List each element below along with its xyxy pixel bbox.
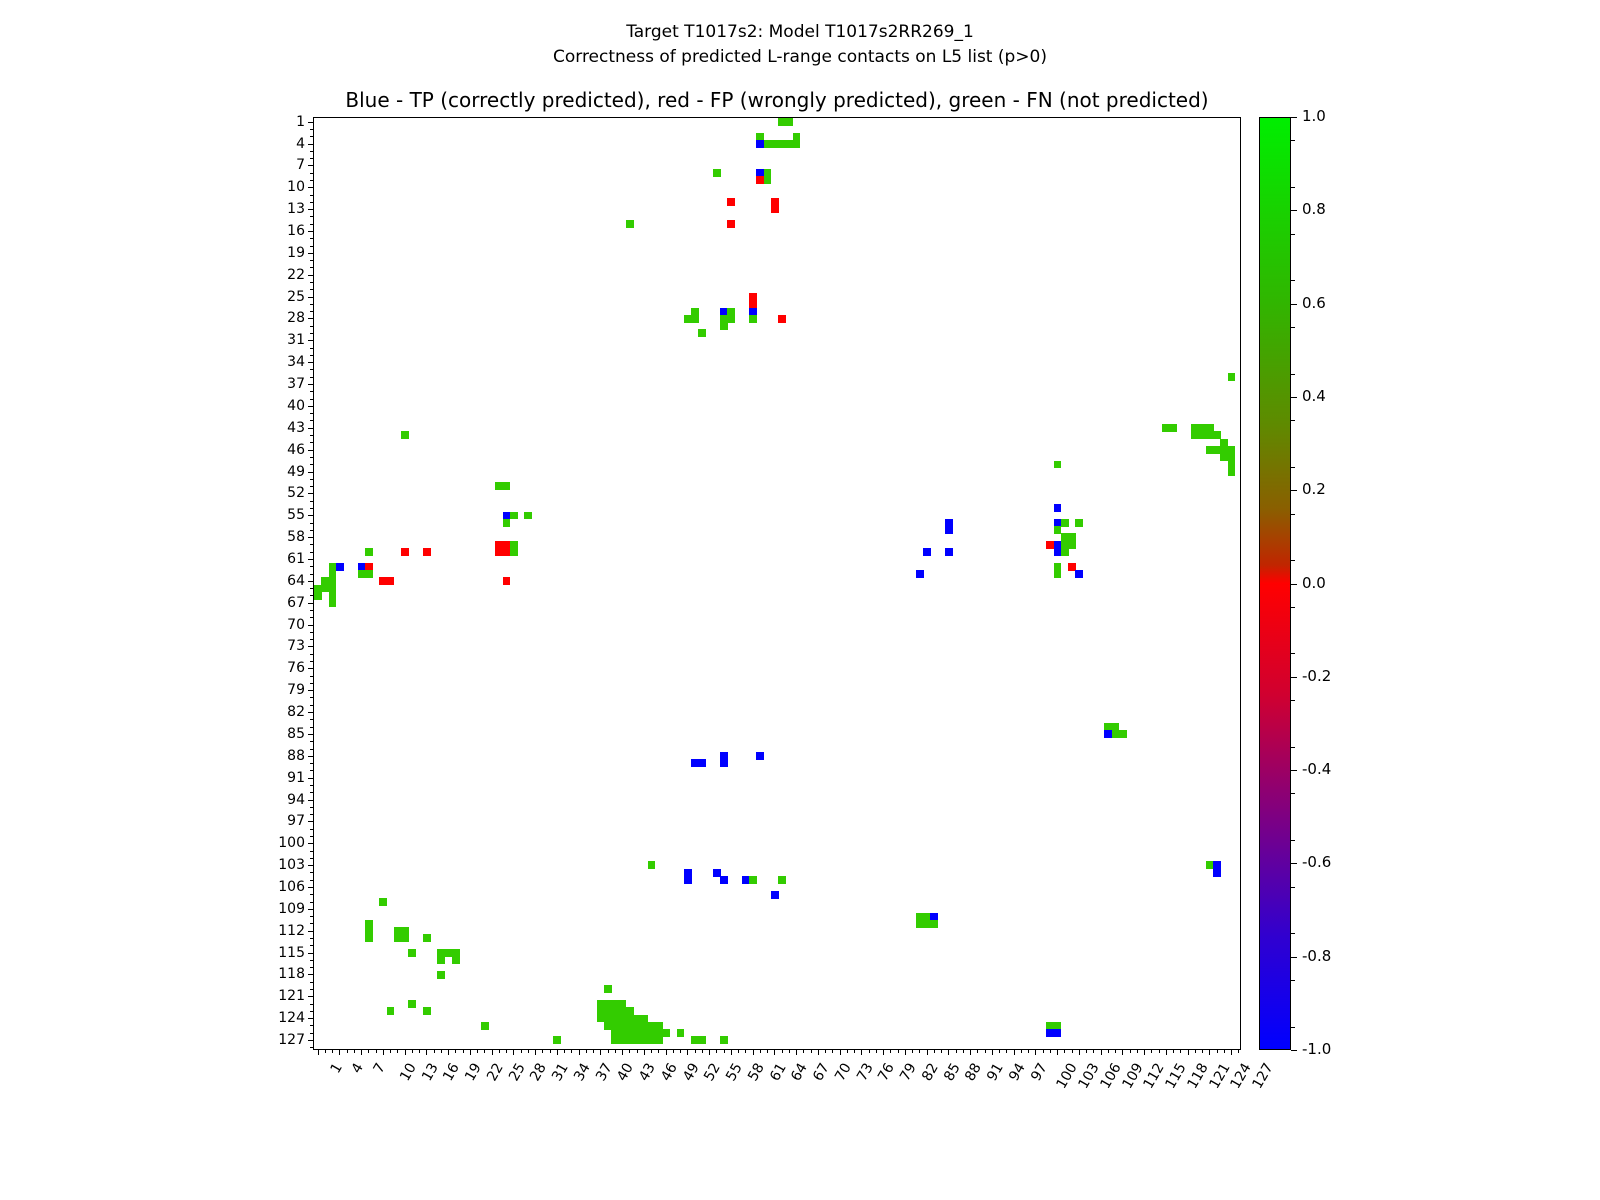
- y-tick-minor: [310, 173, 314, 174]
- contact-cell: [423, 1007, 431, 1015]
- x-tick-minor: [354, 1049, 355, 1053]
- y-tick-major: [308, 297, 314, 298]
- contact-cell: [923, 548, 931, 556]
- contact-cell: [503, 519, 511, 527]
- colorbar-tick: [1291, 957, 1297, 958]
- contact-cell: [423, 548, 431, 556]
- y-tick-major: [308, 231, 314, 232]
- x-tick-minor: [571, 1049, 572, 1053]
- x-tick-label: 124: [1229, 1061, 1254, 1091]
- x-tick-minor: [463, 1049, 464, 1053]
- x-tick-major: [492, 1049, 493, 1055]
- x-tick-major: [470, 1049, 471, 1055]
- x-tick-major: [687, 1049, 688, 1055]
- x-tick-minor: [347, 1049, 348, 1053]
- contact-cell: [1119, 730, 1127, 738]
- x-tick-major: [840, 1049, 841, 1055]
- contact-cell: [408, 1000, 416, 1008]
- y-tick-minor: [310, 807, 314, 808]
- x-tick-minor: [629, 1049, 630, 1053]
- colorbar-tick: [1291, 770, 1297, 771]
- x-tick-minor: [651, 1049, 652, 1053]
- x-tick-minor: [484, 1049, 485, 1053]
- x-tick-minor: [455, 1049, 456, 1053]
- x-tick-major: [383, 1049, 384, 1055]
- y-tick-minor: [310, 479, 314, 480]
- x-tick-major: [426, 1049, 427, 1055]
- x-tick-minor: [593, 1049, 594, 1053]
- x-tick-major: [774, 1049, 775, 1055]
- x-tick-minor: [985, 1049, 986, 1053]
- colorbar-tick-minor: [1291, 933, 1295, 934]
- x-tick-minor: [506, 1049, 507, 1053]
- contact-cell: [1054, 1029, 1062, 1037]
- y-tick-minor: [310, 377, 314, 378]
- colorbar-tick: [1291, 863, 1297, 864]
- y-tick-minor: [310, 945, 314, 946]
- contact-cell: [677, 1029, 685, 1037]
- y-tick-minor: [310, 683, 314, 684]
- y-tick-minor: [310, 369, 314, 370]
- y-tick-minor: [310, 311, 314, 312]
- x-tick-label: 46: [659, 1061, 680, 1083]
- y-tick-label: 7: [296, 158, 305, 172]
- y-tick-label: 109: [278, 902, 305, 916]
- x-tick-minor: [680, 1049, 681, 1053]
- contact-cell: [945, 548, 953, 556]
- y-tick-minor: [310, 880, 314, 881]
- figure-suptitle: Target T1017s2: Model T1017s2RR269_1 Cor…: [0, 20, 1600, 70]
- x-tick-major: [709, 1049, 710, 1055]
- x-tick-label: 94: [1007, 1061, 1028, 1083]
- x-tick-major: [644, 1049, 645, 1055]
- colorbar-tick-minor: [1291, 747, 1295, 748]
- colorbar-tick: [1291, 1050, 1297, 1051]
- y-tick-minor: [310, 260, 314, 261]
- colorbar-tick-minor: [1291, 467, 1295, 468]
- x-tick-label: 1: [328, 1061, 345, 1076]
- x-tick-minor: [695, 1049, 696, 1053]
- colorbar-tick-minor: [1291, 234, 1295, 235]
- x-tick-minor: [1130, 1049, 1131, 1053]
- contact-cell: [401, 934, 409, 942]
- x-tick-major: [992, 1049, 993, 1055]
- x-tick-minor: [956, 1049, 957, 1053]
- contact-cell: [720, 759, 728, 767]
- y-tick-label: 31: [287, 333, 305, 347]
- contact-cell: [626, 220, 634, 228]
- y-tick-minor: [310, 770, 314, 771]
- y-tick-minor: [310, 501, 314, 502]
- contact-cell: [423, 934, 431, 942]
- y-tick-label: 22: [287, 268, 305, 282]
- y-tick-minor: [310, 348, 314, 349]
- y-tick-minor: [310, 902, 314, 903]
- colorbar-tick: [1291, 210, 1297, 211]
- x-tick-label: 82: [920, 1061, 941, 1083]
- y-tick-label: 82: [287, 705, 305, 719]
- contact-cell: [945, 526, 953, 534]
- y-tick-minor: [310, 894, 314, 895]
- contact-cell: [727, 198, 735, 206]
- colorbar-tick-minor: [1291, 187, 1295, 188]
- x-tick-minor: [397, 1049, 398, 1053]
- contact-cell: [727, 315, 735, 323]
- y-tick-label: 73: [287, 639, 305, 653]
- x-tick-minor: [637, 1049, 638, 1053]
- colorbar-tick-label: 0.8: [1302, 202, 1326, 217]
- y-tick-label: 37: [287, 377, 305, 391]
- x-tick-major: [600, 1049, 601, 1055]
- contact-cell: [437, 971, 445, 979]
- x-tick-major: [1101, 1049, 1102, 1055]
- x-tick-minor: [999, 1049, 1000, 1053]
- y-tick-label: 16: [287, 224, 305, 238]
- y-tick-major: [308, 756, 314, 757]
- y-tick-label: 49: [287, 465, 305, 479]
- y-tick-major: [308, 493, 314, 494]
- x-tick-major: [339, 1049, 340, 1055]
- y-tick-major: [308, 909, 314, 910]
- y-tick-minor: [310, 136, 314, 137]
- y-tick-minor: [310, 552, 314, 553]
- y-tick-minor: [310, 566, 314, 567]
- x-tick-minor: [832, 1049, 833, 1053]
- colorbar-gradient: [1259, 117, 1291, 1050]
- x-tick-minor: [434, 1049, 435, 1053]
- x-tick-major: [1209, 1049, 1210, 1055]
- y-tick-label: 94: [287, 793, 305, 807]
- y-tick-label: 34: [287, 355, 305, 369]
- contact-cell: [1061, 519, 1069, 527]
- suptitle-line-1: Target T1017s2: Model T1017s2RR269_1: [0, 20, 1600, 45]
- colorbar-tick-minor: [1291, 793, 1295, 794]
- x-tick-label: 43: [637, 1061, 658, 1083]
- x-tick-label: 91: [985, 1061, 1006, 1083]
- y-tick-minor: [310, 1011, 314, 1012]
- y-tick-minor: [310, 851, 314, 852]
- y-tick-label: 43: [287, 421, 305, 435]
- x-tick-minor: [941, 1049, 942, 1053]
- contact-cell: [698, 329, 706, 337]
- colorbar-tick-minor: [1291, 327, 1295, 328]
- contact-cell: [749, 315, 757, 323]
- y-tick-minor: [310, 749, 314, 750]
- x-tick-major: [361, 1049, 362, 1055]
- x-tick-major: [535, 1049, 536, 1055]
- colorbar-tick-minor: [1291, 607, 1295, 608]
- x-tick-minor: [1086, 1049, 1087, 1053]
- x-tick-minor: [767, 1049, 768, 1053]
- x-tick-label: 7: [372, 1061, 389, 1076]
- x-tick-minor: [789, 1049, 790, 1053]
- x-tick-label: 58: [746, 1061, 767, 1083]
- contact-cell: [503, 482, 511, 490]
- x-tick-minor: [615, 1049, 616, 1053]
- contact-cell: [524, 512, 532, 520]
- y-tick-minor: [310, 967, 314, 968]
- x-tick-label: 70: [833, 1061, 854, 1083]
- y-tick-minor: [310, 442, 314, 443]
- y-tick-label: 40: [287, 399, 305, 413]
- contact-cell: [481, 1022, 489, 1030]
- y-tick-label: 121: [278, 989, 305, 1003]
- contact-cell: [553, 1036, 561, 1044]
- x-tick-label: 103: [1076, 1061, 1101, 1091]
- y-tick-label: 64: [287, 574, 305, 588]
- y-tick-major: [308, 1040, 314, 1041]
- x-tick-minor: [847, 1049, 848, 1053]
- x-tick-minor: [898, 1049, 899, 1053]
- y-tick-minor: [310, 676, 314, 677]
- x-tick-label: 88: [963, 1061, 984, 1083]
- x-tick-major: [405, 1049, 406, 1055]
- y-tick-major: [308, 406, 314, 407]
- colorbar-tick-label: -1.0: [1302, 1042, 1331, 1057]
- y-tick-major: [308, 165, 314, 166]
- contact-cell: [365, 570, 373, 578]
- y-tick-label: 88: [287, 749, 305, 763]
- y-tick-label: 103: [278, 858, 305, 872]
- y-tick-label: 100: [278, 836, 305, 850]
- y-tick-minor: [310, 326, 314, 327]
- x-tick-major: [579, 1049, 580, 1055]
- axes-title-legend: Blue - TP (correctly predicted), red - F…: [313, 88, 1241, 112]
- y-tick-minor: [310, 661, 314, 662]
- x-tick-major: [927, 1049, 928, 1055]
- y-tick-label: 61: [287, 552, 305, 566]
- x-tick-major: [1079, 1049, 1080, 1055]
- x-tick-major: [1014, 1049, 1015, 1055]
- y-tick-major: [308, 187, 314, 188]
- y-tick-major: [308, 340, 314, 341]
- x-tick-major: [1144, 1049, 1145, 1055]
- contact-cell: [727, 220, 735, 228]
- x-tick-label: 118: [1185, 1061, 1210, 1091]
- x-tick-label: 16: [441, 1061, 462, 1083]
- y-tick-label: 127: [278, 1033, 305, 1047]
- x-tick-minor: [521, 1049, 522, 1053]
- colorbar-tick-label: -0.2: [1302, 669, 1331, 684]
- contact-cell: [648, 861, 656, 869]
- contact-cell: [1075, 570, 1083, 578]
- y-tick-major: [308, 668, 314, 669]
- y-tick-minor: [310, 697, 314, 698]
- x-tick-label: 112: [1142, 1061, 1167, 1091]
- y-tick-minor: [310, 574, 314, 575]
- x-tick-minor: [1028, 1049, 1029, 1053]
- contact-cell: [401, 548, 409, 556]
- colorbar-tick: [1291, 584, 1297, 585]
- x-tick-minor: [977, 1049, 978, 1053]
- y-tick-minor: [310, 530, 314, 531]
- y-tick-label: 67: [287, 596, 305, 610]
- y-tick-minor: [310, 872, 314, 873]
- y-tick-minor: [310, 457, 314, 458]
- x-tick-major: [731, 1049, 732, 1055]
- y-tick-major: [308, 625, 314, 626]
- y-tick-major: [308, 887, 314, 888]
- y-tick-minor: [310, 610, 314, 611]
- x-tick-major: [796, 1049, 797, 1055]
- y-tick-label: 76: [287, 661, 305, 675]
- contact-cell: [365, 548, 373, 556]
- y-tick-minor: [310, 180, 314, 181]
- x-tick-minor: [1108, 1049, 1109, 1053]
- x-tick-minor: [934, 1049, 935, 1053]
- x-tick-label: 31: [550, 1061, 571, 1083]
- y-tick-minor: [310, 238, 314, 239]
- y-tick-major: [308, 996, 314, 997]
- x-tick-minor: [876, 1049, 877, 1053]
- colorbar-tick-minor: [1291, 560, 1295, 561]
- contact-cell: [785, 118, 793, 126]
- x-tick-label: 115: [1163, 1061, 1188, 1091]
- contact-cell: [1228, 468, 1236, 476]
- y-tick-minor: [310, 719, 314, 720]
- y-tick-minor: [310, 705, 314, 706]
- contact-cell: [1213, 869, 1221, 877]
- y-tick-major: [308, 974, 314, 975]
- contact-cell: [510, 512, 518, 520]
- x-tick-label: 64: [789, 1061, 810, 1083]
- x-tick-minor: [441, 1049, 442, 1053]
- x-tick-minor: [803, 1049, 804, 1053]
- y-tick-minor: [310, 639, 314, 640]
- y-tick-minor: [310, 814, 314, 815]
- x-tick-minor: [912, 1049, 913, 1053]
- x-tick-minor: [811, 1049, 812, 1053]
- colorbar-tick-minor: [1291, 140, 1295, 141]
- contact-map-plot-area[interactable]: 1471013161922252831343740434649525558616…: [313, 117, 1241, 1050]
- y-tick-minor: [310, 508, 314, 509]
- contact-cell: [720, 322, 728, 330]
- y-tick-minor: [310, 304, 314, 305]
- y-tick-minor: [310, 544, 314, 545]
- colorbar-tick-minor: [1291, 514, 1295, 515]
- x-tick-major: [905, 1049, 906, 1055]
- suptitle-line-2: Correctness of predicted L-range contact…: [0, 45, 1600, 70]
- contact-cell: [930, 920, 938, 928]
- y-tick-minor: [310, 151, 314, 152]
- y-tick-major: [308, 821, 314, 822]
- contact-cell: [314, 592, 322, 600]
- colorbar[interactable]: 1.00.80.60.40.20.0-0.2-0.4-0.6-0.8-1.0: [1259, 117, 1291, 1050]
- y-tick-major: [308, 253, 314, 254]
- x-tick-minor: [325, 1049, 326, 1053]
- y-tick-major: [308, 800, 314, 801]
- x-tick-major: [1122, 1049, 1123, 1055]
- y-tick-major: [308, 843, 314, 844]
- y-tick-minor: [310, 588, 314, 589]
- x-tick-minor: [1050, 1049, 1051, 1053]
- colorbar-tick: [1291, 677, 1297, 678]
- y-tick-minor: [310, 216, 314, 217]
- x-tick-major: [318, 1049, 319, 1055]
- y-tick-minor: [310, 858, 314, 859]
- y-tick-minor: [310, 727, 314, 728]
- contact-cell: [387, 1007, 395, 1015]
- contact-cell: [1054, 461, 1062, 469]
- x-tick-label: 4: [350, 1061, 367, 1076]
- x-tick-minor: [738, 1049, 739, 1053]
- contact-cell: [329, 599, 337, 607]
- contact-cell: [1170, 424, 1178, 432]
- contact-cell: [1054, 504, 1062, 512]
- y-tick-minor: [310, 523, 314, 524]
- y-tick-label: 13: [287, 202, 305, 216]
- x-tick-major: [622, 1049, 623, 1055]
- colorbar-tick: [1291, 117, 1297, 118]
- x-tick-label: 13: [420, 1061, 441, 1083]
- y-tick-major: [308, 931, 314, 932]
- x-tick-minor: [1238, 1049, 1239, 1053]
- x-tick-label: 127: [1250, 1061, 1275, 1091]
- x-tick-major: [1057, 1049, 1058, 1055]
- x-tick-major: [448, 1049, 449, 1055]
- x-tick-minor: [542, 1049, 543, 1053]
- colorbar-tick-label: -0.4: [1302, 762, 1331, 777]
- colorbar-tick-label: 0.0: [1302, 576, 1326, 591]
- colorbar-tick-minor: [1291, 840, 1295, 841]
- x-tick-minor: [782, 1049, 783, 1053]
- contact-map-cells: [314, 118, 1240, 1049]
- colorbar-tick-label: 0.4: [1302, 389, 1326, 404]
- x-tick-minor: [919, 1049, 920, 1053]
- x-tick-major: [1231, 1049, 1232, 1055]
- colorbar-tick-label: -0.8: [1302, 949, 1331, 964]
- y-tick-minor: [310, 246, 314, 247]
- y-tick-label: 79: [287, 683, 305, 697]
- x-tick-minor: [658, 1049, 659, 1053]
- colorbar-tick-minor: [1291, 420, 1295, 421]
- x-tick-minor: [1224, 1049, 1225, 1053]
- x-tick-minor: [477, 1049, 478, 1053]
- contact-cell: [1075, 519, 1083, 527]
- y-tick-label: 52: [287, 486, 305, 500]
- x-tick-major: [513, 1049, 514, 1055]
- y-tick-minor: [310, 435, 314, 436]
- y-tick-label: 91: [287, 771, 305, 785]
- x-tick-minor: [854, 1049, 855, 1053]
- contact-cell: [793, 140, 801, 148]
- x-tick-minor: [608, 1049, 609, 1053]
- x-tick-label: 52: [702, 1061, 723, 1083]
- contact-cell: [1068, 541, 1076, 549]
- x-tick-minor: [1021, 1049, 1022, 1053]
- x-tick-major: [666, 1049, 667, 1055]
- contact-cell: [437, 956, 445, 964]
- y-tick-major: [308, 428, 314, 429]
- y-tick-minor: [310, 391, 314, 392]
- x-tick-minor: [412, 1049, 413, 1053]
- x-tick-label: 19: [463, 1061, 484, 1083]
- y-tick-major: [308, 318, 314, 319]
- y-tick-minor: [310, 632, 314, 633]
- y-tick-minor: [310, 195, 314, 196]
- x-tick-minor: [1180, 1049, 1181, 1053]
- y-tick-minor: [310, 960, 314, 961]
- x-tick-major: [557, 1049, 558, 1055]
- colorbar-tick: [1291, 490, 1297, 491]
- y-tick-label: 118: [278, 967, 305, 981]
- x-tick-minor: [1195, 1049, 1196, 1053]
- x-tick-major: [883, 1049, 884, 1055]
- y-tick-label: 10: [287, 180, 305, 194]
- colorbar-tick-label: 0.6: [1302, 296, 1326, 311]
- x-tick-major: [1188, 1049, 1189, 1055]
- y-tick-major: [308, 537, 314, 538]
